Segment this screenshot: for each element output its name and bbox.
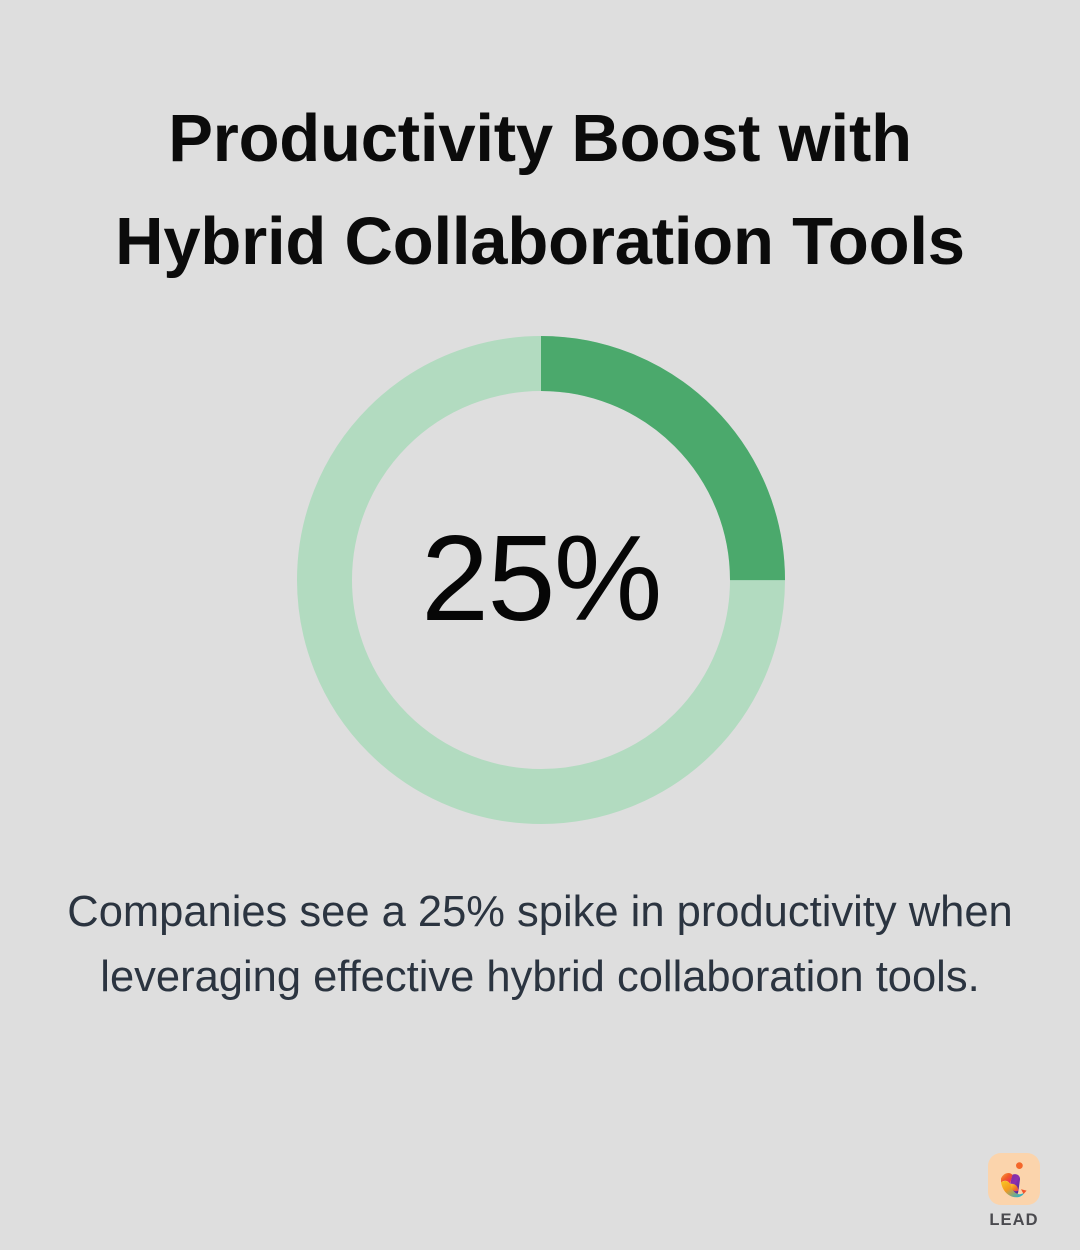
- infographic-canvas: Productivity Boost with Hybrid Collabora…: [0, 0, 1080, 1250]
- lead-bird-logo-icon: [988, 1153, 1040, 1205]
- title-block: Productivity Boost with Hybrid Collabora…: [0, 88, 1080, 293]
- lead-bird-logo-glyph: [988, 1153, 1040, 1205]
- donut-center-value: 25%: [421, 517, 661, 639]
- brand-wordmark: LEAD: [989, 1212, 1038, 1229]
- donut-chart: 25%: [297, 336, 785, 824]
- description-text: Companies see a 25% spike in productivit…: [42, 880, 1038, 1010]
- brand-logo: LEAD: [974, 1153, 1054, 1229]
- description-block: Companies see a 25% spike in productivit…: [0, 880, 1080, 1010]
- donut-center-label-wrap: 25%: [297, 336, 785, 824]
- page-title: Productivity Boost with Hybrid Collabora…: [30, 88, 1050, 293]
